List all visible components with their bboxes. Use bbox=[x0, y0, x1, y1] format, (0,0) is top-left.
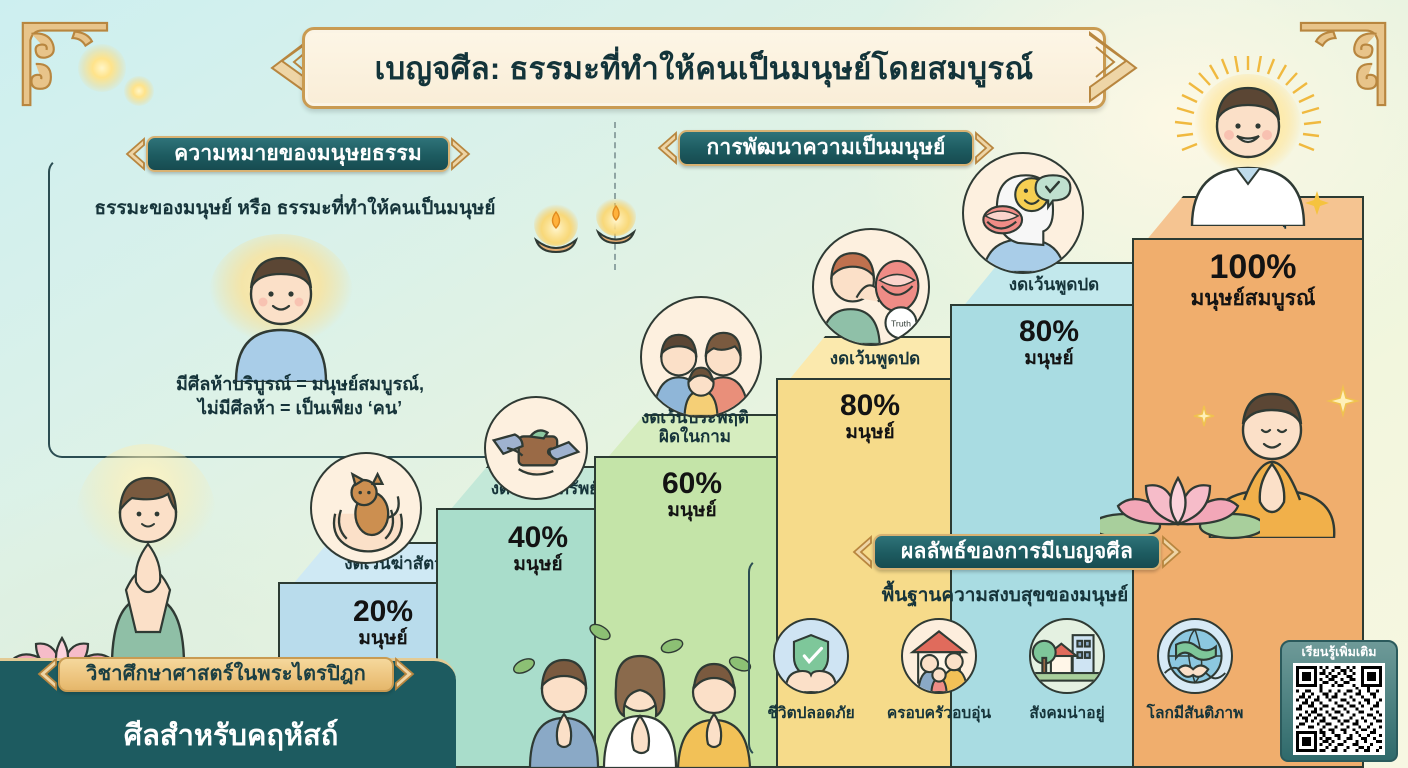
development-banner-plate: การพัฒนาความเป็นมนุษย์ bbox=[678, 130, 973, 166]
meaning-banner-plate: ความหมายของมนุษยธรรม bbox=[146, 136, 450, 172]
svg-text:Truth: Truth bbox=[891, 319, 911, 329]
step-4-percent: 80% มนุษย์ bbox=[776, 390, 958, 444]
banner-wing-right bbox=[394, 657, 418, 691]
course-banner-text: วิชาศึกษาศาสตร์ในพระไตรปิฎก bbox=[86, 664, 366, 685]
banner-wing-left bbox=[34, 657, 58, 691]
development-connector-line bbox=[614, 122, 616, 270]
results-banner-text: ผลลัพธ์ของการมีเบญจศีล bbox=[901, 541, 1133, 563]
banner-wing-left bbox=[849, 535, 873, 569]
step-3-icon family-icon bbox=[640, 296, 762, 418]
meaning-note: มีศีลห้าบริบูรณ์ = มนุษย์สมบูรณ์, ไม่มีศ… bbox=[90, 372, 510, 421]
result-label-1: ชีวิตปลอดภัย bbox=[752, 700, 870, 725]
step-5-label: งดเว้นพูดปด bbox=[950, 275, 1140, 294]
result-item-4[interactable]: โลกมีสันติภาพ bbox=[1136, 618, 1254, 725]
banner-wing-right bbox=[1161, 535, 1185, 569]
qr-code-image[interactable] bbox=[1293, 663, 1385, 755]
title-ornament-right bbox=[1088, 31, 1140, 105]
step-5-icon mindful-speech-icon bbox=[962, 152, 1084, 274]
step-4-label: งดเว้นพูดปด bbox=[776, 349, 958, 368]
result-label-2: ครอบครัวอบอุ่น bbox=[880, 700, 998, 725]
step-5-percent-value: 80% bbox=[958, 316, 1140, 348]
banner-wing-left bbox=[122, 137, 146, 171]
banner-wing-right bbox=[450, 137, 474, 171]
step-4-percent-unit: มนุษย์ bbox=[782, 422, 958, 445]
step-6-label: งดเว้นดื่มสุรา bbox=[1132, 209, 1364, 228]
development-banner-text: การพัฒนาความเป็นมนุษย์ bbox=[706, 137, 945, 159]
page-title: เบญจศีล: ธรรมะที่ทำให้คนเป็นมนุษย์โดยสมบ… bbox=[268, 27, 1140, 109]
results-subtitle: พื้นฐานความสงบสุขของมนุษย์ bbox=[750, 580, 1260, 610]
step-6-percent: 100% มนุษย์สมบูรณ์ bbox=[1132, 250, 1364, 311]
course-banner: วิชาศึกษาศาสตร์ในพระไตรปิฎก bbox=[46, 654, 406, 694]
results-banner: ผลลัพธ์ของการมีเบญจศีล bbox=[836, 532, 1198, 572]
step-3-percent-value: 60% bbox=[602, 468, 782, 500]
step-5-percent-unit: มนุษย์ bbox=[958, 348, 1140, 371]
meaning-note-line2: ไม่มีศีลห้า = เป็นเพียง ‘คน’ bbox=[90, 396, 510, 420]
ornament-corner-top-right bbox=[1288, 10, 1396, 118]
illustration-praying-woman bbox=[74, 440, 224, 675]
step-4-icon speak-truth-icon: Truth bbox=[812, 228, 930, 346]
result-item-1[interactable]: ชีวิตปลอดภัย bbox=[752, 618, 870, 725]
meaning-banner-text: ความหมายของมนุษยธรรม bbox=[174, 143, 422, 165]
step-3-percent-unit: มนุษย์ bbox=[602, 500, 782, 523]
family-house-icon bbox=[901, 618, 977, 694]
ornament-corner-top-left bbox=[12, 10, 120, 118]
neighborhood-icon bbox=[1029, 618, 1105, 694]
step-4-percent-value: 80% bbox=[782, 390, 958, 422]
title-plate: เบญจศีล: ธรรมะที่ทำให้คนเป็นมนุษย์โดยสมบ… bbox=[302, 27, 1106, 109]
result-label-4: โลกมีสันติภาพ bbox=[1136, 700, 1254, 725]
title-text: เบญจศีล: ธรรมะที่ทำให้คนเป็นมนุษย์โดยสมบ… bbox=[375, 43, 1034, 93]
shield-hand-icon bbox=[773, 618, 849, 694]
meaning-subtitle: ธรรมะของมนุษย์ หรือ ธรรมะที่ทำให้คนเป็นม… bbox=[60, 193, 530, 223]
step-2-icon wallet-return-icon bbox=[484, 396, 588, 500]
step-1-icon cat-in-hands-icon bbox=[310, 452, 422, 564]
meaning-note-line1: มีศีลห้าบริบูรณ์ = มนุษย์สมบูรณ์, bbox=[90, 372, 510, 396]
course-title: ศีลสำหรับคฤหัสถ์ bbox=[66, 712, 396, 758]
result-item-2[interactable]: ครอบครัวอบอุ่น bbox=[880, 618, 998, 725]
glow-dot-large bbox=[78, 44, 126, 92]
qr-card[interactable]: เรียนรู้เพิ่มเติม bbox=[1280, 640, 1398, 762]
step-3-label-line2: ผิดในกาม bbox=[608, 427, 782, 446]
course-banner-plate: วิชาศึกษาศาสตร์ในพระไตรปิฎก bbox=[58, 657, 394, 692]
result-item-3[interactable]: สังคมน่าอยู่ bbox=[1008, 618, 1126, 725]
globe-handshake-icon bbox=[1157, 618, 1233, 694]
step-3-percent: 60% มนุษย์ bbox=[594, 468, 782, 522]
result-label-3: สังคมน่าอยู่ bbox=[1008, 700, 1126, 725]
meaning-banner: ความหมายของมนุษยธรรม bbox=[108, 134, 488, 174]
development-banner: การพัฒนาความเป็นมนุษย์ bbox=[650, 128, 1002, 168]
results-banner-plate: ผลลัพธ์ของการมีเบญจศีล bbox=[873, 534, 1161, 570]
step-6-percent-value: 100% bbox=[1142, 250, 1364, 286]
step-5-percent: 80% มนุษย์ bbox=[950, 316, 1140, 370]
infographic-canvas: เบญจศีล: ธรรมะที่ทำให้คนเป็นมนุษย์โดยสมบ… bbox=[0, 0, 1408, 768]
glow-dot-small bbox=[124, 76, 154, 106]
banner-wing-left bbox=[654, 131, 678, 165]
step-6-percent-unit: มนุษย์สมบูรณ์ bbox=[1142, 286, 1364, 311]
qr-caption: เรียนรู้เพิ่มเติม bbox=[1286, 646, 1392, 660]
